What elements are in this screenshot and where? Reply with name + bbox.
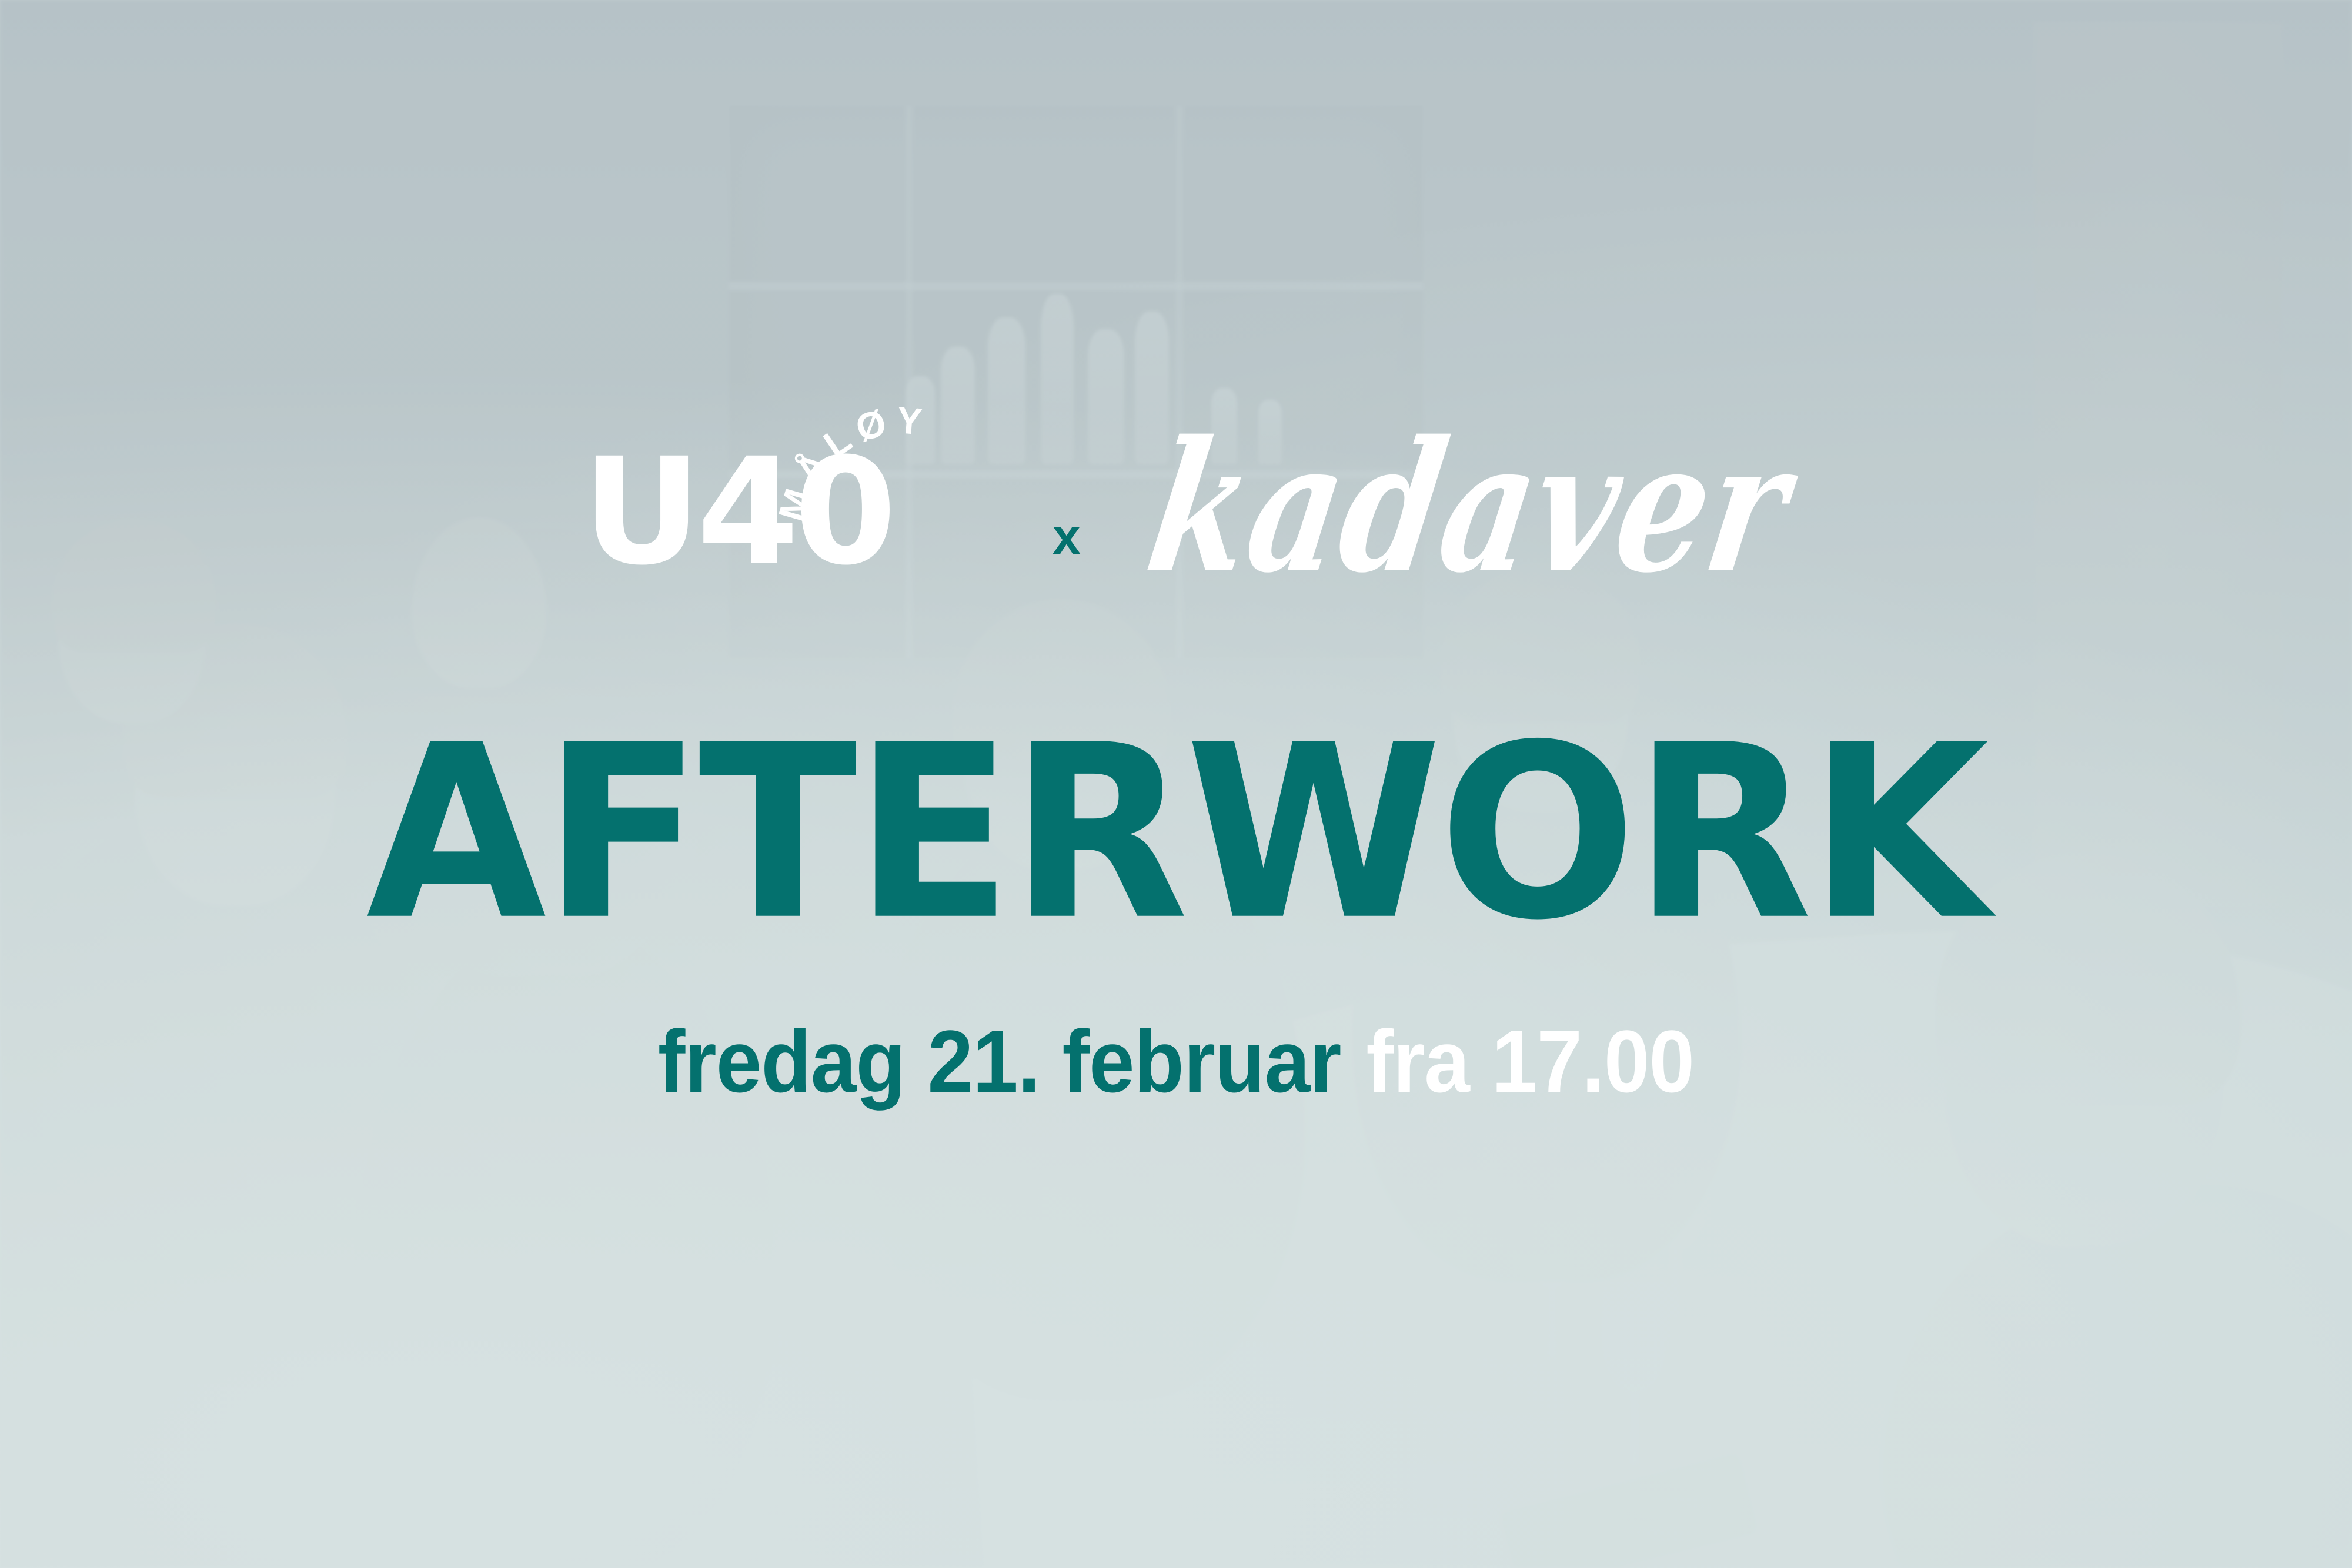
svg-text:MÅLØY: MÅLØY [776, 399, 931, 526]
event-time: fra 17.00 [1366, 1012, 1694, 1111]
page-title: AFTERWORK [12, 714, 2340, 954]
event-datetime: fredag 21. februarfra 17.00 [82, 1011, 2270, 1111]
poster-content: U40 MÅLØY x kadaver AFTERWORK fredag 21.… [0, 0, 2352, 1568]
kadaver-wordmark: kadaver [1135, 399, 1803, 614]
logo-lockup: U40 MÅLØY x kadaver [0, 423, 2352, 635]
event-date: fredag 21. februar [658, 1012, 1341, 1111]
u40-logo: U40 MÅLØY [582, 423, 1005, 623]
logo-separator-x: x [1053, 511, 1081, 562]
event-poster: U40 MÅLØY x kadaver AFTERWORK fredag 21.… [0, 0, 2352, 1568]
maloy-arc-text: MÅLØY [776, 393, 1023, 640]
maloy-arc-label: MÅLØY [776, 399, 931, 526]
